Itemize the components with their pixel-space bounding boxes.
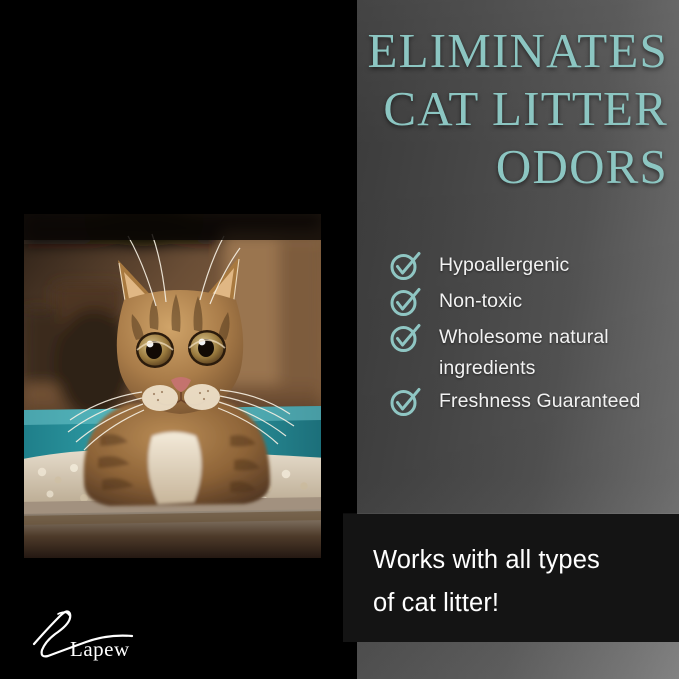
caption-panel: Works with all types of cat litter! (343, 514, 679, 642)
benefit-item: Freshness Guaranteed (388, 386, 673, 420)
benefit-label: Hypoallergenic (439, 250, 569, 281)
check-circle-icon (388, 284, 422, 318)
benefit-item: Hypoallergenic (388, 250, 673, 284)
product-ad-banner: ELIMINATES CAT LITTER ODORS (0, 0, 679, 679)
benefit-label: Wholesome natural ingredients (439, 322, 673, 384)
headline: ELIMINATES CAT LITTER ODORS (238, 22, 668, 195)
benefits-list: Hypoallergenic Non-toxic Wholesome natur… (388, 250, 673, 422)
check-circle-icon (388, 248, 422, 282)
caption-text: Works with all types of cat litter! (373, 539, 658, 625)
benefit-item: Wholesome natural ingredients (388, 322, 673, 384)
brand-name: Lapew (70, 637, 130, 661)
benefit-item: Non-toxic (388, 286, 673, 320)
product-photo (24, 214, 321, 558)
kitten-in-litter-box-illustration (24, 214, 321, 558)
check-circle-icon (388, 384, 422, 418)
brand-logo: Lapew (28, 606, 158, 662)
check-circle-icon (388, 320, 422, 354)
benefit-label: Freshness Guaranteed (439, 386, 640, 417)
benefit-label: Non-toxic (439, 286, 522, 317)
